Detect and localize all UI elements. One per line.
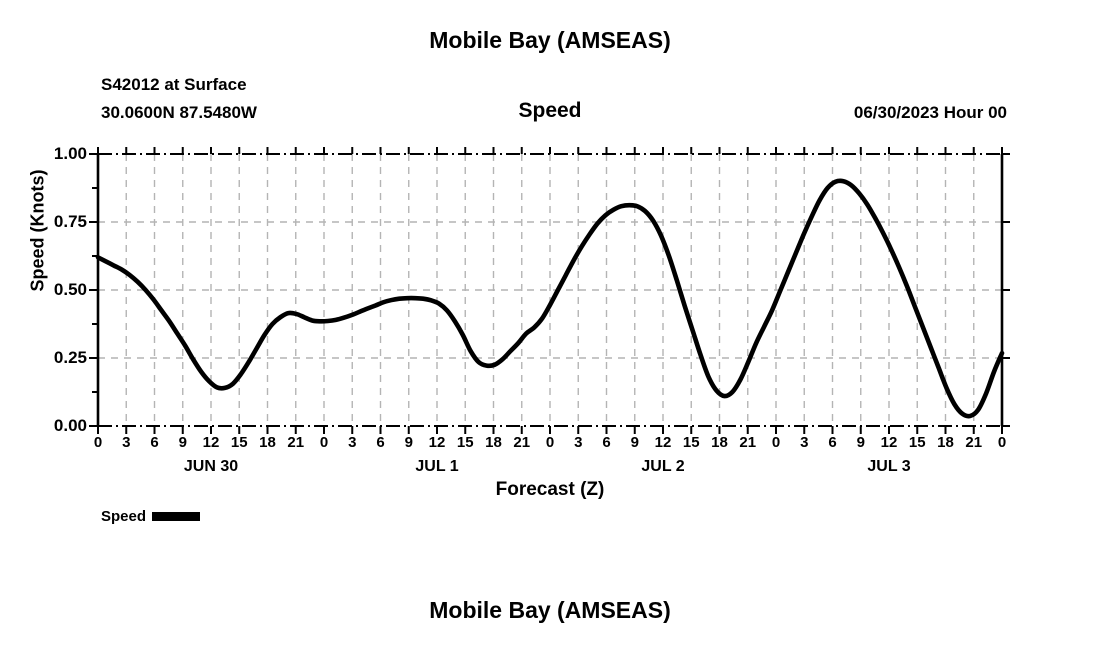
x-tick-label: 18 (708, 434, 732, 451)
x-axis-day-label: JUL 1 (377, 458, 497, 476)
chart-page: Mobile Bay (AMSEAS) S42012 at Surface 30… (0, 0, 1100, 650)
x-tick-label: 15 (905, 434, 929, 451)
x-tick-label: 9 (849, 434, 873, 451)
x-tick-label: 0 (990, 434, 1014, 451)
legend-label-speed: Speed (101, 508, 146, 525)
x-tick-label: 18 (934, 434, 958, 451)
y-tick-label: 0.00 (27, 416, 87, 436)
x-tick-label: 18 (482, 434, 506, 451)
x-tick-label: 21 (284, 434, 308, 451)
x-tick-label: 21 (510, 434, 534, 451)
y-tick-label: 0.75 (27, 212, 87, 232)
x-tick-label: 6 (595, 434, 619, 451)
y-tick-label: 0.25 (27, 348, 87, 368)
x-tick-label: 12 (877, 434, 901, 451)
x-tick-label: 6 (143, 434, 167, 451)
x-tick-label: 0 (86, 434, 110, 451)
x-tick-label: 12 (199, 434, 223, 451)
x-tick-label: 21 (736, 434, 760, 451)
footer-title: Mobile Bay (AMSEAS) (0, 597, 1100, 624)
x-tick-label: 12 (651, 434, 675, 451)
x-axis-day-label: JUL 2 (603, 458, 723, 476)
x-tick-label: 3 (114, 434, 138, 451)
x-tick-label: 15 (679, 434, 703, 451)
chart-plot-area (0, 0, 1100, 650)
x-tick-label: 3 (340, 434, 364, 451)
x-tick-label: 15 (453, 434, 477, 451)
x-tick-label: 3 (566, 434, 590, 451)
x-tick-label: 9 (623, 434, 647, 451)
x-tick-label: 3 (792, 434, 816, 451)
x-tick-label: 18 (256, 434, 280, 451)
y-tick-label: 0.50 (27, 280, 87, 300)
legend-swatch-speed (152, 512, 200, 521)
x-tick-label: 0 (538, 434, 562, 451)
x-tick-label: 0 (312, 434, 336, 451)
y-tick-label: 1.00 (27, 144, 87, 164)
x-axis-day-label: JUN 30 (151, 458, 271, 476)
x-tick-label: 21 (962, 434, 986, 451)
x-tick-label: 12 (425, 434, 449, 451)
x-tick-label: 0 (764, 434, 788, 451)
x-tick-label: 9 (171, 434, 195, 451)
x-tick-label: 6 (821, 434, 845, 451)
x-tick-label: 6 (369, 434, 393, 451)
x-tick-label: 9 (397, 434, 421, 451)
x-axis-day-label: JUL 3 (829, 458, 949, 476)
chart-legend: Speed (101, 508, 200, 525)
x-tick-label: 15 (227, 434, 251, 451)
